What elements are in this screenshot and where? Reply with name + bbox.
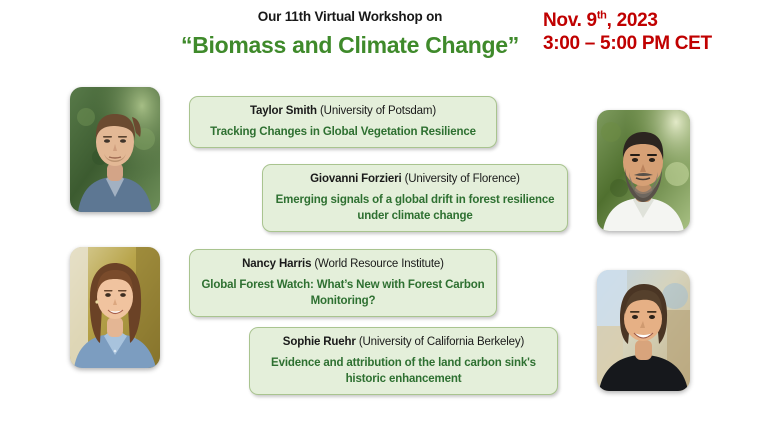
talk-title: Evidence and attribution of the land car…: [260, 355, 547, 387]
talk-title: Emerging signals of a global drift in fo…: [273, 192, 557, 224]
portrait-taylor-smith-image: [70, 87, 160, 212]
talk-title: Tracking Changes in Global Vegetation Re…: [200, 124, 486, 140]
speaker-line: Taylor Smith (University of Potsdam): [200, 103, 486, 120]
portrait-giovanni-forzieri: [597, 110, 690, 231]
portrait-sophie-ruehr: [597, 270, 690, 391]
speaker-name: Giovanni Forzieri: [310, 173, 401, 185]
title-block: Our 11th Virtual Workshop on “Biomass an…: [150, 8, 550, 60]
speaker-line: Nancy Harris (World Resource Institute): [200, 256, 486, 273]
speaker-affiliation: (University of Potsdam): [320, 105, 436, 117]
workshop-title: “Biomass and Climate Change”: [150, 30, 550, 60]
date-time-block: Nov. 9th, 2023 3:00 – 5:00 PM CET: [543, 9, 712, 55]
portrait-nancy-harris: [70, 247, 160, 368]
speaker-line: Sophie Ruehr (University of California B…: [260, 334, 547, 351]
speaker-name: Sophie Ruehr: [283, 336, 356, 348]
speaker-affiliation: (University of California Berkeley): [359, 336, 524, 348]
portrait-giovanni-forzieri-image: [597, 110, 690, 231]
speaker-line: Giovanni Forzieri (University of Florenc…: [273, 171, 557, 188]
event-time: 3:00 – 5:00 PM CET: [543, 32, 712, 55]
event-date-year: , 2023: [607, 10, 658, 31]
talk-title: Global Forest Watch: What’s New with For…: [200, 277, 486, 309]
poster-header: Our 11th Virtual Workshop on “Biomass an…: [0, 0, 768, 78]
talk-card-1[interactable]: Taylor Smith (University of Potsdam) Tra…: [189, 96, 497, 148]
speaker-affiliation: (World Resource Institute): [314, 258, 443, 270]
event-date-day: Nov. 9: [543, 10, 597, 31]
portrait-taylor-smith: [70, 87, 160, 212]
talk-card-2[interactable]: Giovanni Forzieri (University of Florenc…: [262, 164, 568, 232]
event-date: Nov. 9th, 2023: [543, 9, 712, 32]
portrait-nancy-harris-image: [70, 247, 160, 368]
workshop-subtitle: Our 11th Virtual Workshop on: [150, 8, 550, 26]
speaker-affiliation: (University of Florence): [405, 173, 520, 185]
portrait-sophie-ruehr-image: [597, 270, 690, 391]
talk-card-3[interactable]: Nancy Harris (World Resource Institute) …: [189, 249, 497, 317]
talk-card-4[interactable]: Sophie Ruehr (University of California B…: [249, 327, 558, 395]
event-date-ordinal: th: [597, 10, 607, 22]
speaker-name: Nancy Harris: [242, 258, 311, 270]
speaker-name: Taylor Smith: [250, 105, 317, 117]
